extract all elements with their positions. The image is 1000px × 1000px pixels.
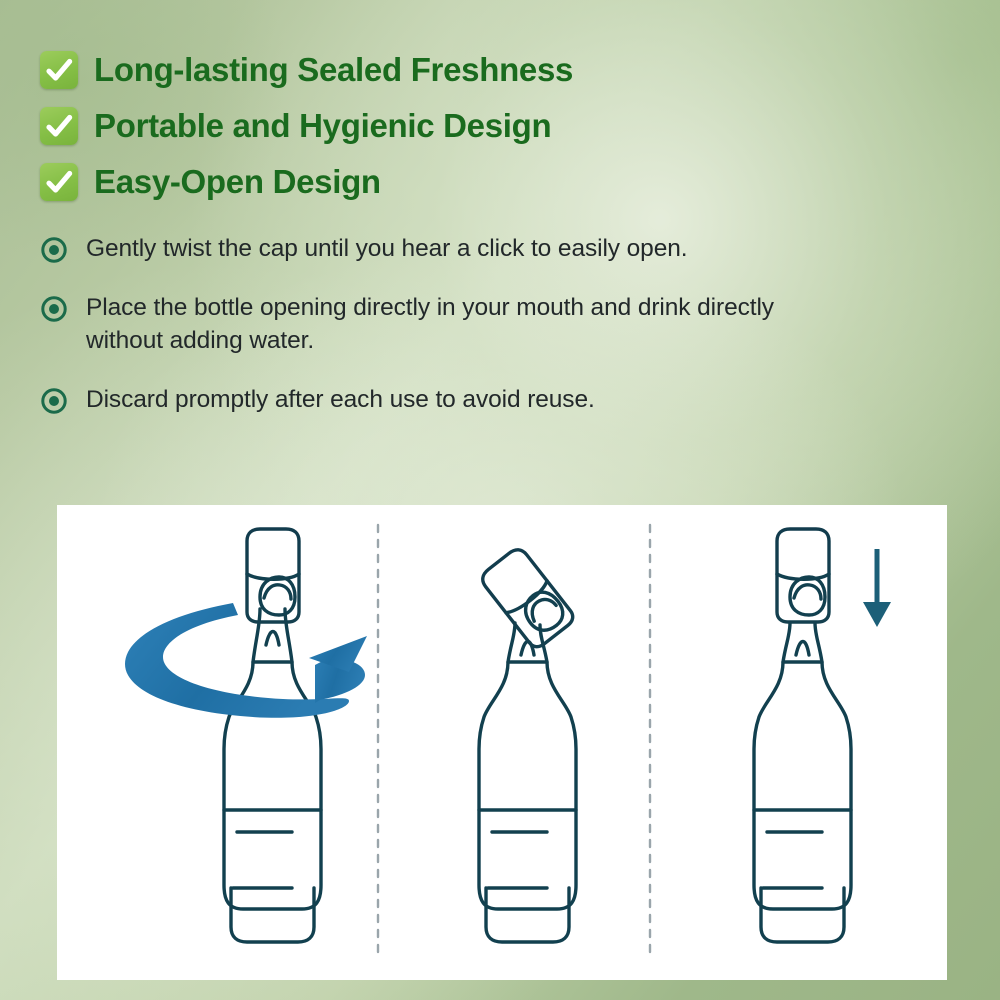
check-box-icon	[40, 163, 78, 201]
remove-cap-step	[470, 545, 585, 952]
bottle-neck-notch	[266, 632, 279, 646]
instruction-text: Gently twist the cap until you hear a cl…	[86, 232, 687, 265]
usage-illustration-panel	[57, 505, 947, 980]
bottle-neck-notch	[796, 642, 809, 656]
cap-grip-inner	[264, 585, 291, 599]
twist-cap-step	[215, 529, 330, 952]
radio-bullet-icon	[40, 295, 68, 323]
radio-bullet-icon	[40, 387, 68, 415]
bottle-body	[754, 662, 851, 909]
feature-item: Long-lasting Sealed Freshness	[40, 42, 920, 98]
feature-label: Easy-Open Design	[94, 163, 381, 201]
instruction-item: Place the bottle opening directly in you…	[40, 291, 840, 357]
instruction-item: Gently twist the cap until you hear a cl…	[40, 232, 840, 265]
radio-bullet-icon	[40, 236, 68, 264]
feature-label: Portable and Hygienic Design	[94, 107, 551, 145]
down-arrow-icon	[863, 549, 891, 627]
feature-item: Portable and Hygienic Design	[40, 98, 920, 154]
rotate-arrow-icon	[125, 603, 367, 718]
instruction-list: Gently twist the cap until you hear a cl…	[40, 232, 840, 442]
bottle-neck	[253, 609, 292, 662]
product-infographic: Long-lasting Sealed Freshness Portable a…	[0, 0, 1000, 1000]
check-box-icon	[40, 51, 78, 89]
bottle-base	[486, 888, 569, 942]
instruction-item: Discard promptly after each use to avoid…	[40, 383, 840, 416]
check-box-icon	[40, 107, 78, 145]
tilted-cap	[478, 545, 576, 650]
bottle-body	[479, 662, 576, 909]
press-cap-step	[745, 529, 860, 952]
feature-item: Easy-Open Design	[40, 154, 920, 210]
feature-list: Long-lasting Sealed Freshness Portable a…	[40, 42, 920, 210]
bottle-base	[231, 888, 314, 942]
instruction-text: Discard promptly after each use to avoid…	[86, 383, 595, 416]
usage-illustration	[57, 505, 947, 980]
cap-grip-inner	[794, 585, 821, 599]
instruction-text: Place the bottle opening directly in you…	[86, 291, 806, 357]
bottle-cap	[478, 545, 576, 650]
bottle-base	[761, 888, 844, 942]
feature-label: Long-lasting Sealed Freshness	[94, 51, 573, 89]
